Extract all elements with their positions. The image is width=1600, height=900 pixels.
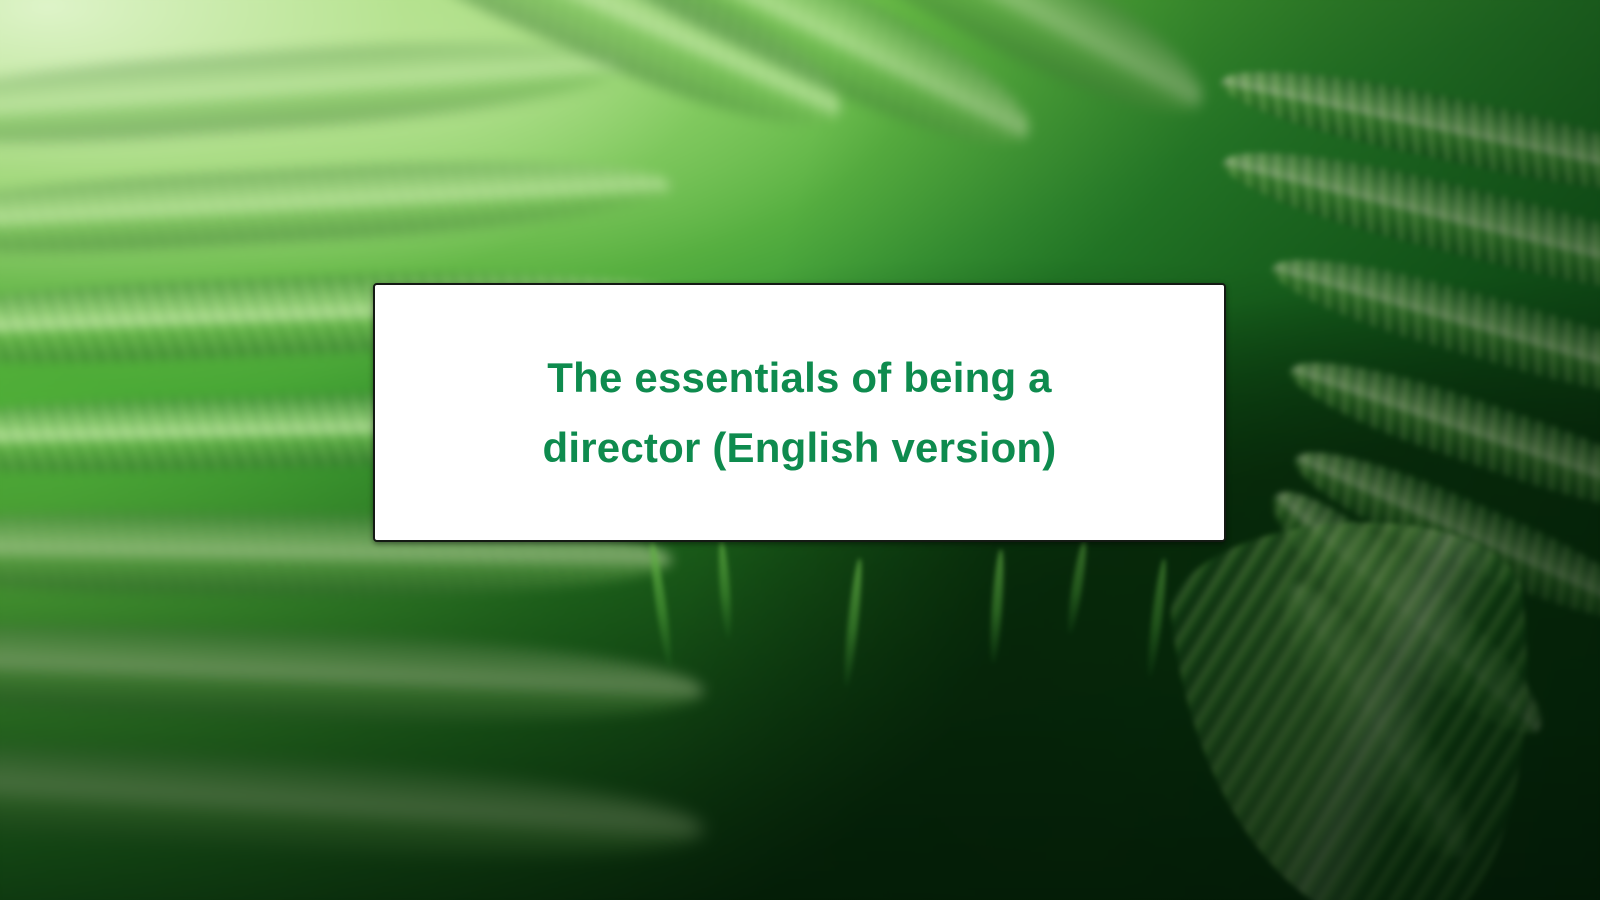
title-line-1: The essentials of being a (547, 343, 1051, 413)
title-line-2: director (English version) (543, 413, 1057, 483)
presentation-slide: The essentials of being a director (Engl… (0, 0, 1600, 900)
title-card: The essentials of being a director (Engl… (373, 283, 1226, 542)
